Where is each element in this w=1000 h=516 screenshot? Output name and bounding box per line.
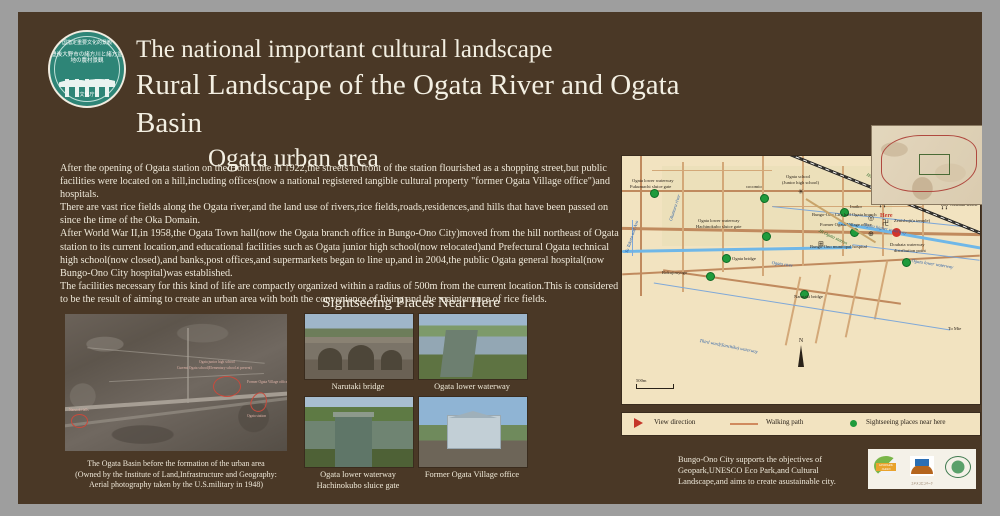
sightseeing-heading: Sightseeing Places Near Here <box>296 295 526 312</box>
aerial-label-village-office: Former Ogata Village office <box>247 380 287 385</box>
map-label-10: Hachinokubo sluice gate <box>696 224 741 230</box>
emblem-text-main: 豊後大野市の緒方川と緒方盆地の農村景観 <box>50 52 124 64</box>
map-legend: View direction Walking path Sightseeing … <box>621 412 981 436</box>
aerial-caption-line-3: Aerial photography taken by the U.S.mili… <box>60 480 292 491</box>
scale-label: 500m <box>636 378 646 383</box>
aerial-label-ogata-station: Ogata station <box>247 414 266 419</box>
map-school-symbol: ✳ <box>798 188 804 196</box>
aerial-label-junior-high: Ogata junior high school <box>199 360 235 365</box>
footer-line-3: Landscape,and aims to create asustainabl… <box>678 476 878 487</box>
map-label-16: Narutaki bridge <box>794 294 823 300</box>
caption-line-1: Ogata lower waterway <box>300 470 416 481</box>
photo-former-ogata-village-office <box>418 396 528 468</box>
aerial-photo-caption: The Ogata Basin before the formation of … <box>60 459 292 491</box>
photo-caption-narutaki-bridge: Narutaki bridge <box>304 382 412 393</box>
map-label-3: Ogata school <box>786 174 810 180</box>
inset-focus-rectangle <box>919 154 950 175</box>
cultural-landscape-emblem: 国指定重要文化的景観 豊後大野市の緒方川と緒方盆地の農村景観 文化庁 <box>48 30 126 108</box>
description-paragraph-2: There are vast rice fields along the Oga… <box>60 201 620 227</box>
legend-sightseeing: Sightseeing places near here <box>866 418 946 426</box>
page-title: The national important cultural landscap… <box>136 34 696 176</box>
legend-walking-path: Walking path <box>766 418 803 426</box>
aerial-annotation-school-circle <box>213 376 241 397</box>
photo-hachinokubo-sluice-gate <box>304 396 414 468</box>
unesco-eco-park-logo: ユネスコエコパーク <box>907 453 938 485</box>
map-label-15: Rokujimyogo <box>662 270 687 276</box>
photo-narutaki-bridge <box>304 313 414 380</box>
description-paragraph-3: After World War II,in 1958,the Ogata Tow… <box>60 227 620 279</box>
map-label-19: To Mie <box>948 326 961 332</box>
information-board: 国指定重要文化的景観 豊後大野市の緒方川と緒方盆地の農村景観 文化庁 The n… <box>18 12 982 504</box>
map-label-9: Ogata lower waterway <box>698 218 740 224</box>
aerial-caption-line-2: (Owned by the Institute of Land,Infrastr… <box>60 470 292 481</box>
aerial-photograph-1948: Ogata junior high school Current Ogata s… <box>65 314 287 451</box>
aerial-label-narutaki-falls: Narutaki falls <box>69 408 89 413</box>
map-marker-hachinokubo-sluice-gate[interactable] <box>762 232 771 241</box>
map-label-4: (Junior high school) <box>782 180 819 186</box>
map-label-18: distribution point <box>894 248 926 254</box>
map-marker-cocomio[interactable] <box>760 194 769 203</box>
aerial-annotation-narutaki-falls-circle <box>71 414 88 428</box>
map-label-0: Ogata lower waterway <box>632 178 674 184</box>
emblem-text-top: 国指定重要文化的景観 <box>50 41 124 47</box>
map-label-11: Bungo-Ono City hall Ogata branch <box>812 212 877 218</box>
photo-caption-ogata-lower-waterway: Ogata lower waterway <box>418 382 526 393</box>
geopark-japan-logo: GEOPARK JAPAN <box>871 453 902 485</box>
map-marker-rokujimyogo[interactable] <box>706 272 715 281</box>
map-label-12: Bungo-Ono municipal hospital <box>810 244 867 250</box>
cultural-landscape-logo <box>943 453 974 485</box>
partner-logos: GEOPARK JAPAN ユネスコエコパーク <box>868 449 976 489</box>
eco-park-logo-caption: ユネスコエコパーク <box>907 482 938 485</box>
walking-path-icon <box>730 423 758 425</box>
title-line-2: Rural Landscape of the Ogata River and O… <box>136 66 696 142</box>
map-marker-fukumachi-sluice-gate[interactable] <box>650 189 659 198</box>
description-text: After the opening of Ogata station on th… <box>60 162 620 306</box>
photo-caption-former-village-office: Former Ogata Village office <box>414 470 530 481</box>
sightseeing-marker-icon <box>850 420 857 427</box>
aerial-caption-line-1: The Ogata Basin before the formation of … <box>60 459 292 470</box>
caption-line-2: Hachinokubo sluice gate <box>300 481 416 492</box>
legend-view-direction: View direction <box>654 418 695 426</box>
description-paragraph-1: After the opening of Ogata station on th… <box>60 162 620 201</box>
title-line-1: The national important cultural landscap… <box>136 34 696 66</box>
map-label-1: Fukumachi sluice gate <box>630 184 671 190</box>
geopark-logo-caption: GEOPARK JAPAN <box>876 463 896 471</box>
map-label-17: Doubata waterway <box>890 242 925 248</box>
photo-ogata-lower-waterway <box>418 313 528 380</box>
map-scale-bar: 500m <box>636 378 674 389</box>
north-label: N <box>799 338 803 344</box>
footer-line-1: Bungo-Ono City supports the objectives o… <box>678 454 878 465</box>
map-label-2: cocomio <box>746 184 762 190</box>
north-compass: N <box>798 338 804 367</box>
regional-inset-map <box>871 125 982 205</box>
emblem-text-bottom: 文化庁 <box>50 93 124 99</box>
photo-caption-hachinokubo-sluice-gate: Ogata lower waterway Hachinokubo sluice … <box>300 470 416 491</box>
footer-statement: Bungo-Ono City supports the objectives o… <box>678 454 878 487</box>
footer-line-2: Geopark,UNESCO Eco Park,and Cultural <box>678 465 878 476</box>
map-label-14: Ogata bridge <box>732 256 756 262</box>
map-label-5: Inaiko <box>850 204 862 210</box>
map-label-8: Zenishoji(a temple) <box>894 218 930 224</box>
map-marker-doubata-distribution-point[interactable] <box>902 258 911 267</box>
aerial-label-current-school: Current Ogata school(Elementary school a… <box>177 366 252 371</box>
map-marker-ogata-bridge[interactable] <box>722 254 731 263</box>
view-direction-icon <box>634 418 643 428</box>
